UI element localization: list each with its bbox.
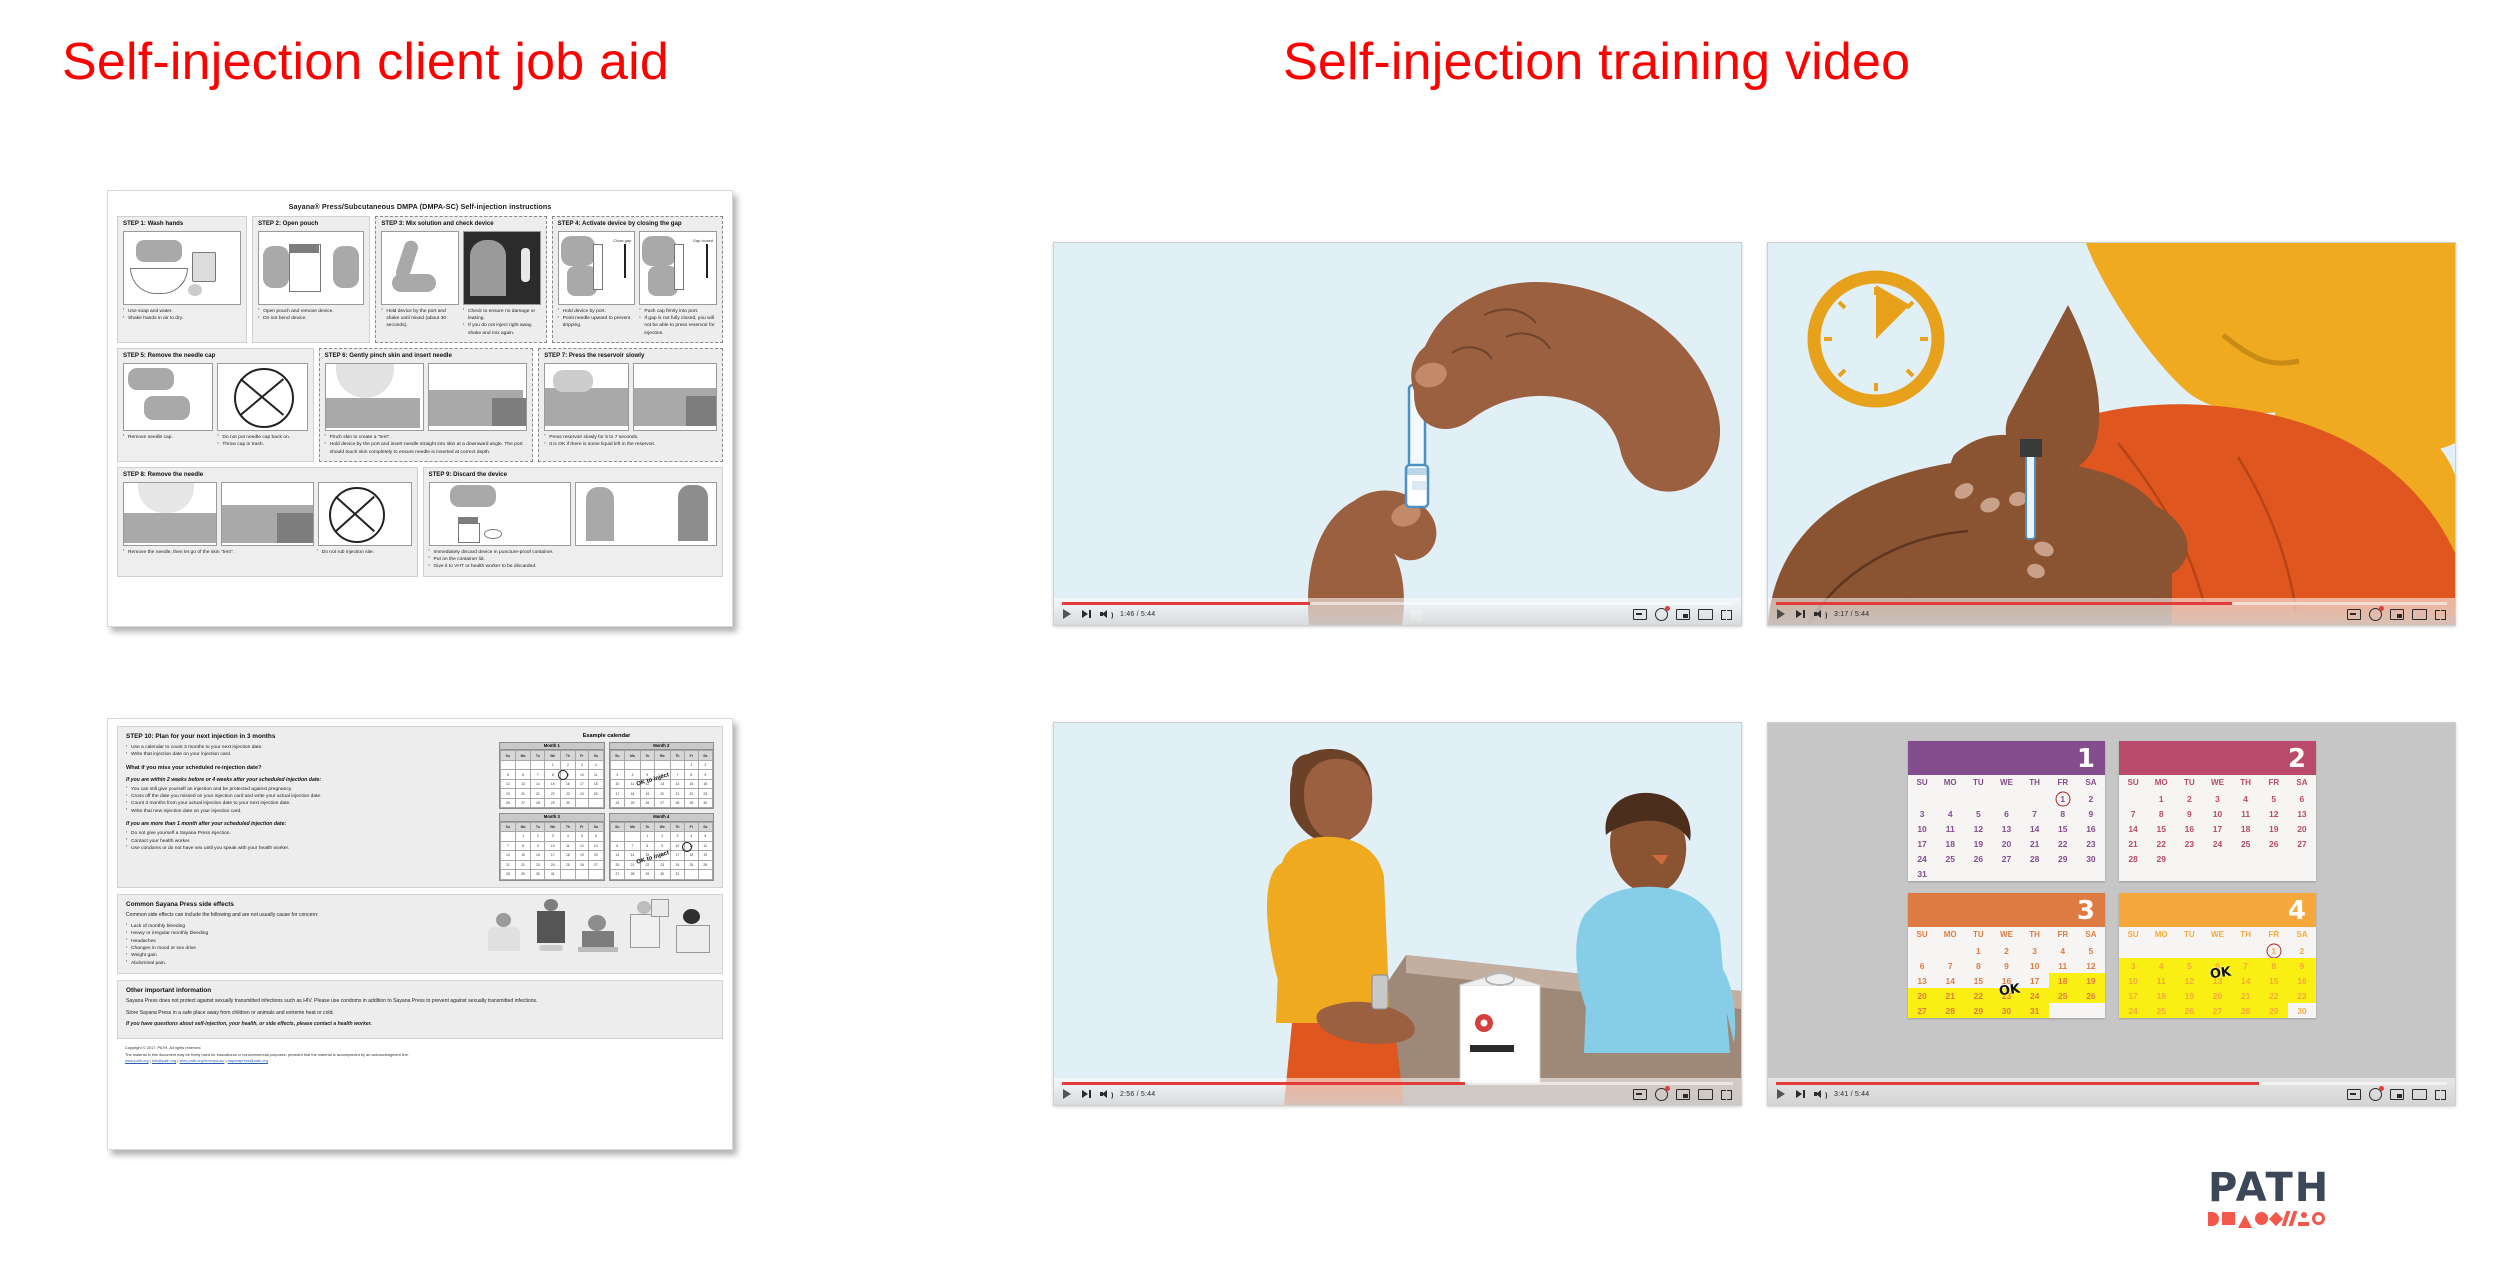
- calendar-day[interactable]: 25: [1936, 851, 1964, 866]
- calendar-day[interactable]: 12: [1964, 821, 1992, 836]
- play-button[interactable]: [1063, 609, 1073, 619]
- calendar-day[interactable]: 4: [2147, 958, 2175, 973]
- calendar-day[interactable]: 5: [2260, 791, 2288, 806]
- illustration-gap-closed: Gap closed: [639, 231, 717, 305]
- mini-calendar-day: 24: [670, 860, 684, 870]
- job-aid-page-1[interactable]: Sayana® Press/Subcutaneous DMPA (DMPA-SC…: [107, 190, 733, 627]
- mini-calendar-day: 24: [575, 789, 589, 799]
- calendar-month-number: 2: [2288, 744, 2306, 774]
- calendar-day[interactable]: 23: [2175, 836, 2203, 851]
- gear-icon[interactable]: [2369, 608, 2382, 621]
- gear-icon[interactable]: [2369, 1088, 2382, 1101]
- time-display: 1:46 / 5:44: [1120, 611, 1155, 618]
- captions-icon[interactable]: [2347, 609, 2361, 620]
- calendar-week-row: 21222324252627: [2119, 836, 2316, 851]
- link-info-path[interactable]: info@path.org: [152, 1058, 177, 1063]
- calendar-dow: SA: [2077, 775, 2105, 791]
- calendar-day[interactable]: 7: [2232, 958, 2260, 973]
- mini-calendar-table: SuMoTuWeThFrSa12345678910111213141516171…: [610, 822, 714, 880]
- calendar-day[interactable]: 18: [2232, 821, 2260, 836]
- mini-calendar-dow: We: [654, 822, 670, 832]
- within-window-title: If you are within 2 weeks before or 4 we…: [126, 777, 489, 783]
- example-calendar-grid: Month 1SuMoTuWeThFrSa1234567891011121314…: [499, 742, 714, 881]
- calendar-day[interactable]: 12: [2077, 958, 2105, 973]
- calendar-day[interactable]: 1: [2260, 943, 2288, 958]
- step-bullets: Check to ensure no damage or leaking. If…: [463, 308, 541, 337]
- calendar-day[interactable]: 14: [1936, 973, 1964, 988]
- mini-calendar-day: 20: [515, 789, 531, 799]
- captions-icon[interactable]: [1633, 609, 1647, 620]
- calendar-day[interactable]: 27: [2288, 836, 2316, 851]
- progress-bar[interactable]: [1776, 1082, 2447, 1085]
- example-mini-calendar: Month 2SuMoTuWeThFrSa1234567891011121314…: [609, 742, 715, 809]
- captions-icon[interactable]: [1633, 1089, 1647, 1100]
- mini-calendar-day: 29: [515, 870, 531, 880]
- mini-calendar-day: 20: [610, 860, 625, 870]
- calendar-day[interactable]: 3: [1908, 806, 1936, 821]
- footer-links: www.path.org | info@path.org | sites.pat…: [125, 1058, 715, 1064]
- calendar-day[interactable]: 31: [1908, 866, 1936, 881]
- calendar-day-empty: [1908, 943, 1936, 958]
- calendar-day[interactable]: 22: [1964, 988, 1992, 1003]
- mini-calendar-day: 26: [640, 798, 654, 808]
- mini-calendar-day: 5: [501, 770, 516, 780]
- calendar-day[interactable]: 21: [2232, 988, 2260, 1003]
- calendar-day[interactable]: 4: [1936, 806, 1964, 821]
- calendar-day[interactable]: 9: [2288, 958, 2316, 973]
- calendar-day[interactable]: 16: [2077, 821, 2105, 836]
- calendar-day[interactable]: 21: [2021, 836, 2049, 851]
- calendar-day[interactable]: 4: [2049, 943, 2077, 958]
- mini-calendar-day: 15: [515, 851, 531, 861]
- theater-mode-icon[interactable]: [1698, 609, 1713, 620]
- volume-icon[interactable]: [1100, 610, 1111, 619]
- example-calendar-block: Example calendar Month 1SuMoTuWeThFrSa12…: [499, 733, 714, 881]
- mini-calendar-day: 31: [545, 870, 561, 880]
- within-window-bullets: You can still give yourself an injection…: [126, 786, 489, 815]
- calendar-day[interactable]: 29: [2049, 851, 2077, 866]
- calendar-month-number: 4: [2288, 896, 2306, 926]
- video-stage: [1768, 243, 2455, 625]
- side-effects-illustrations: [484, 899, 712, 953]
- mini-calendar-day: 3: [545, 832, 561, 842]
- calendar-day[interactable]: 28: [2232, 1003, 2260, 1018]
- volume-icon[interactable]: [1814, 610, 1825, 619]
- step-bullets: Hold device by port. Point needle upward…: [558, 308, 636, 337]
- calendar-dow: TH: [2021, 775, 2049, 791]
- calendar-day[interactable]: 18: [1936, 836, 1964, 851]
- calendar-day[interactable]: 10: [2021, 958, 2049, 973]
- calendar-day[interactable]: 15: [2049, 821, 2077, 836]
- mini-calendar-day: 30: [531, 870, 545, 880]
- volume-icon[interactable]: [1100, 1090, 1111, 1099]
- mini-calendar-day-empty: [575, 798, 589, 808]
- mini-calendar-dow: Tu: [531, 822, 545, 832]
- progress-bar[interactable]: [1062, 1082, 1733, 1085]
- mini-calendar-month-label: Month 1: [500, 743, 604, 750]
- calendar-day[interactable]: 12: [2260, 806, 2288, 821]
- calendar-day[interactable]: 12: [2175, 973, 2203, 988]
- example-mini-calendar: Month 1SuMoTuWeThFrSa1234567891011121314…: [499, 742, 605, 809]
- calendar-day[interactable]: 31: [2021, 1003, 2049, 1018]
- calendar-day[interactable]: 18: [2147, 988, 2175, 1003]
- mini-calendar-dow: Th: [670, 751, 684, 761]
- calendar-day[interactable]: 11: [2147, 973, 2175, 988]
- calendar-day[interactable]: 8: [1964, 958, 1992, 973]
- calendar-day[interactable]: 3: [2119, 958, 2147, 973]
- calendar-day[interactable]: 27: [2203, 1003, 2231, 1018]
- calendar-day[interactable]: 10: [1908, 821, 1936, 836]
- calendar-day[interactable]: 20: [2203, 988, 2231, 1003]
- calendar-day[interactable]: 9: [1992, 958, 2020, 973]
- fullscreen-icon[interactable]: [1721, 610, 1732, 620]
- step-title: STEP 4: Activate device by closing the g…: [558, 221, 717, 228]
- missed-date-title: What if you miss your scheduled re-injec…: [126, 765, 489, 771]
- mini-calendar-day: 8: [515, 841, 531, 851]
- next-button[interactable]: [1796, 610, 1805, 618]
- mini-calendar-day: 30: [654, 870, 670, 880]
- calendar-week-row: 78910111213: [2119, 806, 2316, 821]
- calendar-day[interactable]: 27: [1992, 851, 2020, 866]
- calendar-day[interactable]: 7: [1936, 958, 1964, 973]
- illustration-give-to-health-worker: [575, 482, 717, 546]
- gear-icon[interactable]: [1655, 1088, 1668, 1101]
- player-controls[interactable]: 2:56 / 5:44: [1054, 1078, 1741, 1105]
- link-path-org[interactable]: www.path.org: [125, 1058, 149, 1063]
- mini-calendar-day: 1: [545, 760, 561, 770]
- illustration-shake-device: [381, 231, 459, 305]
- calendar-dow: SA: [2288, 775, 2316, 791]
- circled-date-marker: [558, 770, 568, 780]
- calendar-day[interactable]: 24: [1908, 851, 1936, 866]
- calendar-day[interactable]: 29: [2147, 851, 2175, 866]
- calendar-dow: FR: [2049, 927, 2077, 943]
- calendar-day[interactable]: 21: [2119, 836, 2147, 851]
- mini-calendar-day: 17: [575, 779, 589, 789]
- progress-fill: [1776, 1082, 2259, 1085]
- calendar-day[interactable]: 1: [1964, 943, 1992, 958]
- calendar-day[interactable]: 24: [2021, 988, 2049, 1003]
- video-player-discard-device[interactable]: 2:56 / 5:44: [1053, 722, 1742, 1106]
- step-panel-1: STEP 1: Wash hands Use soap and water. S…: [117, 216, 247, 343]
- late-window-bullets: Do not give yourself a Sayana Press inje…: [126, 830, 489, 852]
- gear-icon[interactable]: [1655, 608, 1668, 621]
- mini-calendar-day: 16: [531, 851, 545, 861]
- calendar-day[interactable]: 7: [2119, 806, 2147, 821]
- calendar-day[interactable]: 11: [2049, 958, 2077, 973]
- calendar-week-row: 17181920212223: [1908, 836, 2105, 851]
- calendar-day[interactable]: 28: [1936, 1003, 1964, 1018]
- mini-calendar-day: 8: [640, 841, 654, 851]
- calendar-day[interactable]: 4: [2232, 791, 2260, 806]
- step-panel-7: STEP 7: Press the reservoir slowly Press…: [538, 348, 723, 462]
- next-button[interactable]: [1082, 1090, 1091, 1098]
- calendar-day[interactable]: 23: [2288, 988, 2316, 1003]
- calendar-day[interactable]: 26: [2077, 988, 2105, 1003]
- player-controls[interactable]: 3:17 / 5:44: [1768, 598, 2455, 625]
- miniplayer-icon[interactable]: [2390, 1089, 2404, 1100]
- illustration-open-pouch: [258, 231, 364, 305]
- mini-calendar-day: 3: [575, 760, 589, 770]
- step-bullets: Press reservoir slowly for 5 to 7 second…: [544, 434, 717, 449]
- calendar-day-empty: [1992, 791, 2020, 806]
- miniplayer-icon[interactable]: [1676, 1089, 1690, 1100]
- mini-calendar-day: 3: [670, 832, 684, 842]
- calendar-day[interactable]: 20: [1908, 988, 1936, 1003]
- mini-calendar-day-empty: [640, 760, 654, 770]
- step-title: STEP 7: Press the reservoir slowly: [544, 353, 717, 360]
- other-info-italic: If you have questions about self-injecti…: [126, 1021, 714, 1028]
- calendar-month-number: 3: [2077, 896, 2095, 926]
- calendar-day[interactable]: 19: [2175, 988, 2203, 1003]
- calendar-day[interactable]: 17: [1908, 836, 1936, 851]
- calendar-day[interactable]: 7: [2021, 806, 2049, 821]
- calendar-day[interactable]: 27: [1908, 1003, 1936, 1018]
- video-player-calendar-planning[interactable]: 1SUMOTUWETHFRSA1234567891011121314151617…: [1767, 722, 2456, 1106]
- mini-calendar-day: 25: [561, 860, 575, 870]
- next-button[interactable]: [1796, 1090, 1805, 1098]
- calendar-day[interactable]: 29: [1964, 1003, 1992, 1018]
- player-controls[interactable]: 3:41 / 5:44: [1768, 1078, 2455, 1105]
- volume-icon[interactable]: [1814, 1090, 1825, 1099]
- calendar-day[interactable]: 14: [2119, 821, 2147, 836]
- step-10-title: STEP 10: Plan for your next injection in…: [126, 733, 489, 740]
- mini-calendar-dow: Fr: [575, 822, 589, 832]
- calendar-header: 4: [2119, 893, 2316, 927]
- calendar-day[interactable]: 19: [2077, 973, 2105, 988]
- calendar-dow: TH: [2232, 775, 2260, 791]
- calendar-day[interactable]: 6: [2288, 791, 2316, 806]
- mini-calendar-day: 4: [561, 832, 575, 842]
- calendar-day[interactable]: 8: [2049, 806, 2077, 821]
- step-title: STEP 1: Wash hands: [123, 221, 241, 228]
- calendar-day[interactable]: 21: [1936, 988, 1964, 1003]
- calendar-day[interactable]: 25: [2049, 988, 2077, 1003]
- player-controls[interactable]: 1:46 / 5:44: [1054, 598, 1741, 625]
- calendar-day[interactable]: 15: [2147, 821, 2175, 836]
- calendar-day[interactable]: 9: [2077, 806, 2105, 821]
- calendar-dow: WE: [1992, 927, 2020, 943]
- fullscreen-icon[interactable]: [1721, 1090, 1732, 1100]
- calendar-day[interactable]: 20: [2288, 821, 2316, 836]
- theater-mode-icon[interactable]: [2412, 1089, 2427, 1100]
- step-bullets: Pinch skin to create a "tent". Hold devi…: [325, 434, 528, 456]
- calendar-day[interactable]: 16: [2288, 973, 2316, 988]
- mini-calendar-day: 10: [575, 770, 589, 780]
- mini-calendar-month-label: Month 2: [610, 743, 714, 750]
- calendar-day[interactable]: 15: [1964, 973, 1992, 988]
- mini-calendar-day: 13: [515, 779, 531, 789]
- calendar-dow: SA: [2288, 927, 2316, 943]
- mini-calendar-day: 5: [698, 832, 712, 842]
- job-aid-page-2[interactable]: STEP 10: Plan for your next injection in…: [107, 718, 733, 1150]
- calendar-day[interactable]: 5: [2175, 958, 2203, 973]
- calendar-day[interactable]: 2: [2175, 791, 2203, 806]
- calendar-day[interactable]: 25: [2232, 836, 2260, 851]
- calendar-day[interactable]: 14: [2021, 821, 2049, 836]
- calendar-day[interactable]: 11: [1936, 821, 1964, 836]
- calendar-day[interactable]: 9: [2175, 806, 2203, 821]
- calendar-day[interactable]: 18: [2049, 973, 2077, 988]
- video-player-press-reservoir[interactable]: 3:17 / 5:44: [1767, 242, 2456, 626]
- illustration-injecting-thigh: [1768, 243, 2455, 625]
- calendar-day[interactable]: 26: [2260, 836, 2288, 851]
- calendar-day[interactable]: 26: [1964, 851, 1992, 866]
- progress-bar[interactable]: [1062, 602, 1733, 605]
- mini-calendar-day: 21: [531, 789, 545, 799]
- calendar-week-row: 24252627282930: [1908, 851, 2105, 866]
- mini-calendar-day: 15: [685, 779, 699, 789]
- calendar-week-row: 24252627282930: [2119, 1003, 2316, 1018]
- calendar-day[interactable]: 26: [2175, 1003, 2203, 1018]
- calendar-day[interactable]: 30: [1992, 1003, 2020, 1018]
- mini-calendar-day-empty: [589, 870, 603, 880]
- calendar-day[interactable]: 24: [2203, 836, 2231, 851]
- calendar-week-row: 14151617181920: [2119, 821, 2316, 836]
- calendar-day[interactable]: 19: [2260, 821, 2288, 836]
- mini-calendar-day-empty: [589, 798, 603, 808]
- calendar-day[interactable]: 3: [2021, 943, 2049, 958]
- mini-calendar-day: 30: [698, 798, 712, 808]
- illustration-pinch-skin: [325, 363, 424, 431]
- calendar-dow: FR: [2260, 775, 2288, 791]
- calendar-day[interactable]: 16: [2175, 821, 2203, 836]
- calendar-day[interactable]: 19: [1964, 836, 1992, 851]
- mini-calendar-day: 13: [589, 841, 603, 851]
- calendar-day-empty: [2021, 866, 2049, 881]
- miniplayer-icon[interactable]: [1676, 609, 1690, 620]
- step-panel-3: STEP 3: Mix solution and check device: [375, 216, 546, 343]
- mini-calendar-day: 7: [531, 770, 545, 780]
- calendar-day[interactable]: 30: [2288, 1003, 2316, 1018]
- theater-mode-icon[interactable]: [1698, 1089, 1713, 1100]
- captions-icon[interactable]: [2347, 1089, 2361, 1100]
- mini-calendar-day: 29: [685, 798, 699, 808]
- calendar-dow: WE: [2203, 927, 2231, 943]
- play-button[interactable]: [1063, 1089, 1073, 1099]
- calendar-day[interactable]: 17: [2021, 973, 2049, 988]
- calendar-day[interactable]: 6: [1908, 958, 1936, 973]
- mini-calendar-day: 31: [670, 870, 684, 880]
- calendar-day[interactable]: 15: [2260, 973, 2288, 988]
- calendar-day[interactable]: 23: [2077, 836, 2105, 851]
- calendar-header: 1: [1908, 741, 2105, 775]
- step-panel-2: STEP 2: Open pouch Open pouch and remove…: [252, 216, 370, 343]
- mini-calendar-day: 4: [685, 832, 699, 842]
- illustration-remove-needle-b: [221, 482, 315, 546]
- calendar-day[interactable]: 17: [2203, 821, 2231, 836]
- mini-calendar-day: 19: [640, 789, 654, 799]
- calendar-day[interactable]: 17: [2119, 988, 2147, 1003]
- side-effects-section: Common Sayana Press side effects Common …: [117, 894, 723, 975]
- calendar-dow: MO: [2147, 927, 2175, 943]
- calendar-day[interactable]: 13: [1992, 821, 2020, 836]
- mini-calendar-day: 12: [501, 779, 516, 789]
- step-bullets: Remove the needle, then let go of the sk…: [123, 549, 313, 556]
- path-logo: PATH: [2208, 1168, 2368, 1226]
- calendar-day[interactable]: 8: [2147, 806, 2175, 821]
- calendar-dow: FR: [2049, 775, 2077, 791]
- mini-calendar-dow: We: [545, 822, 561, 832]
- link-sayanapress[interactable]: sayanapress@path.org: [228, 1058, 268, 1063]
- calendar-day[interactable]: 8: [2260, 958, 2288, 973]
- illustration-health-worker: [625, 899, 665, 953]
- mini-calendar-day: 9: [698, 770, 712, 780]
- calendar-day[interactable]: 1: [2049, 791, 2077, 806]
- mini-calendar-day: 21: [670, 789, 684, 799]
- illustration-press-reservoir-a: [544, 363, 628, 431]
- step-panel-5: STEP 5: Remove the needle cap: [117, 348, 314, 462]
- calendar-day[interactable]: 2: [2288, 943, 2316, 958]
- calendar-week-row: 12: [2119, 943, 2316, 958]
- mini-calendar-day: 14: [670, 779, 684, 789]
- link-dmpa-sc[interactable]: sites.path.org/rh/dmpa-sc/: [179, 1058, 224, 1063]
- theater-mode-icon[interactable]: [2412, 609, 2427, 620]
- illustration-person-standing: [531, 899, 571, 953]
- fullscreen-icon[interactable]: [2435, 610, 2446, 620]
- calendar-day[interactable]: 2: [2077, 791, 2105, 806]
- mini-calendar-day: 11: [589, 770, 603, 780]
- step-title: STEP 2: Open pouch: [258, 221, 364, 228]
- calendar-day[interactable]: 13: [1908, 973, 1936, 988]
- calendar-day[interactable]: 5: [2077, 943, 2105, 958]
- miniplayer-icon[interactable]: [2390, 609, 2404, 620]
- calendar-day[interactable]: 29: [2260, 1003, 2288, 1018]
- calendar-day[interactable]: 14: [2232, 973, 2260, 988]
- calendar-day[interactable]: 25: [2147, 1003, 2175, 1018]
- calendar-day[interactable]: 10: [2203, 806, 2231, 821]
- mini-calendar-day: 27: [589, 860, 603, 870]
- calendar-day[interactable]: 3: [2203, 791, 2231, 806]
- calendar-day[interactable]: 6: [1992, 806, 2020, 821]
- calendar-day[interactable]: 22: [2260, 988, 2288, 1003]
- illustration-remove-needle-a: [123, 482, 217, 546]
- mini-calendar-month-label: Month 3: [500, 814, 604, 821]
- mini-calendar-day: 11: [561, 841, 575, 851]
- calendar-day[interactable]: 22: [2147, 836, 2175, 851]
- step-panel-6: STEP 6: Gently pinch skin and insert nee…: [319, 348, 534, 462]
- calendar-day[interactable]: 28: [2021, 851, 2049, 866]
- calendar-day[interactable]: 22: [2049, 836, 2077, 851]
- calendar-day[interactable]: 20: [1992, 836, 2020, 851]
- calendar-day[interactable]: 10: [2119, 973, 2147, 988]
- mini-calendar-dow: Th: [561, 751, 575, 761]
- play-button[interactable]: [1777, 1089, 1787, 1099]
- step-bullets: Push cap firmly into port. If gap is not…: [639, 308, 717, 337]
- next-button[interactable]: [1082, 610, 1091, 618]
- calendar-day[interactable]: 24: [2119, 1003, 2147, 1018]
- calendar-day[interactable]: 30: [2077, 851, 2105, 866]
- video-player-mix-solution[interactable]: 1:46 / 5:44: [1053, 242, 1742, 626]
- calendar-day-empty: [2147, 943, 2175, 958]
- calendar-day[interactable]: 11: [2232, 806, 2260, 821]
- mini-calendar-day: 7: [670, 770, 684, 780]
- calendar-day[interactable]: 2: [1992, 943, 2020, 958]
- fullscreen-icon[interactable]: [2435, 1090, 2446, 1100]
- illustration-person-at-table: [578, 907, 618, 953]
- calendar-day[interactable]: 28: [2119, 851, 2147, 866]
- calendar-day[interactable]: 1: [2147, 791, 2175, 806]
- progress-fill: [1776, 602, 2232, 605]
- play-button[interactable]: [1777, 609, 1787, 619]
- mini-calendar-day: 18: [685, 851, 699, 861]
- calendar-day[interactable]: 13: [2288, 806, 2316, 821]
- step-panel-4: STEP 4: Activate device by closing the g…: [552, 216, 723, 343]
- progress-bar[interactable]: [1776, 602, 2447, 605]
- step-bullets: Do not rub injection site.: [317, 549, 412, 556]
- mini-calendar-day: 17: [610, 789, 625, 799]
- calendar-day[interactable]: 5: [1964, 806, 1992, 821]
